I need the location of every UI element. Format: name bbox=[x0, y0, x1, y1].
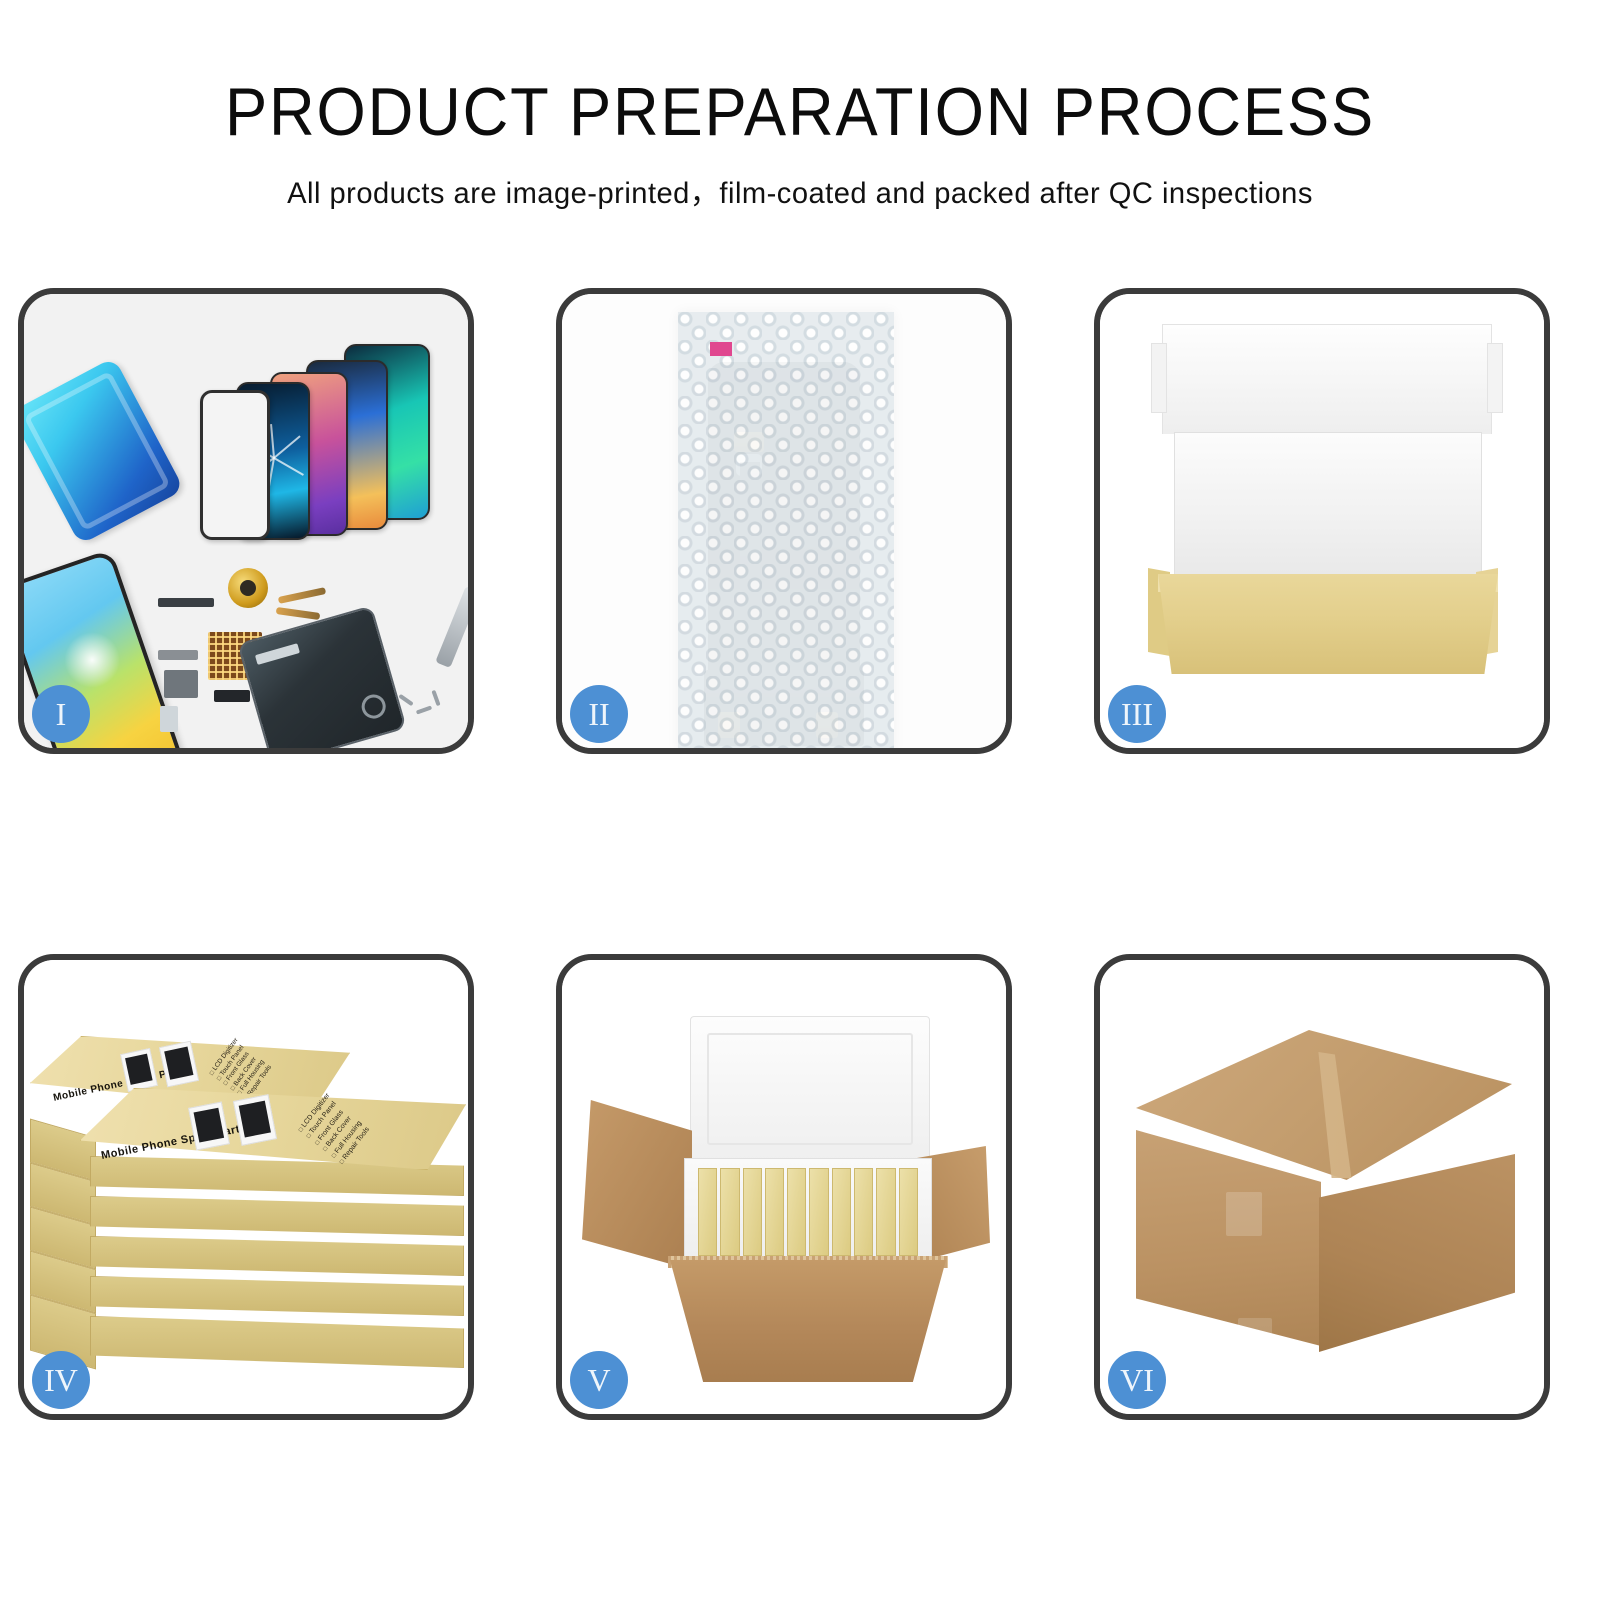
step-panel-4[interactable]: Mobile Phone Spare Parts LCD Digitizer T… bbox=[18, 954, 474, 1420]
step-image-inner-mailer-box bbox=[1100, 294, 1544, 748]
gold-connector-graphic bbox=[734, 432, 764, 452]
inner-retail-boxes-graphic bbox=[698, 1168, 918, 1256]
page-subtitle: All products are image-printed，film-coat… bbox=[24, 168, 1576, 212]
step-badge-2: II bbox=[570, 685, 628, 743]
connector-graphic-2 bbox=[164, 670, 198, 698]
step-panel-6[interactable]: VI bbox=[1094, 954, 1550, 1420]
process-row-1: I II bbox=[18, 288, 1582, 754]
step-image-foam-carton-packing bbox=[562, 960, 1006, 1414]
phone-screen-fan-graphic bbox=[174, 352, 464, 562]
repair-tool-graphic bbox=[435, 586, 468, 668]
flex-cable-graphic-1 bbox=[278, 587, 326, 604]
carton-side-left-graphic bbox=[1136, 1130, 1321, 1346]
step-image-spare-parts-overview bbox=[24, 294, 468, 748]
carton-front-graphic bbox=[670, 1260, 946, 1382]
sim-tray-graphic bbox=[160, 706, 178, 732]
bottom-flex-board-graphic bbox=[704, 670, 864, 746]
flex-cable-graphic-2 bbox=[276, 607, 321, 620]
step-badge-1: I bbox=[32, 685, 90, 743]
logic-board-graphic bbox=[237, 605, 407, 748]
lcd-assembly-graphic bbox=[708, 362, 860, 734]
screws-graphic bbox=[398, 696, 452, 726]
step-panel-1[interactable]: I bbox=[18, 288, 474, 754]
front-glass-graphic bbox=[200, 390, 270, 540]
ic-chip-graphic bbox=[214, 690, 250, 702]
carton-handle-tab-graphic-1 bbox=[1226, 1192, 1262, 1236]
step-badge-6: VI bbox=[1108, 1351, 1166, 1409]
carton-flap-left-graphic bbox=[582, 1100, 692, 1270]
foam-lid-graphic bbox=[690, 1016, 930, 1162]
carton-handle-tab-graphic-2 bbox=[1238, 1318, 1272, 1358]
flex-ribbon-graphic bbox=[740, 462, 760, 642]
step-image-sealed-shipping-carton bbox=[1100, 960, 1544, 1414]
mailer-front-graphic bbox=[1158, 574, 1498, 674]
step-badge-5: V bbox=[570, 1351, 628, 1409]
wireless-coil-graphic bbox=[228, 568, 268, 608]
step-panel-3[interactable]: III bbox=[1094, 288, 1550, 754]
step-panel-5[interactable]: V bbox=[556, 954, 1012, 1420]
pink-tape-tab-graphic bbox=[710, 342, 732, 356]
step-panel-2[interactable]: II bbox=[556, 288, 1012, 754]
speaker-mesh-graphic bbox=[158, 598, 214, 607]
step-badge-3: III bbox=[1108, 685, 1166, 743]
retail-box-stack-graphic: Mobile Phone Spare Parts LCD Digitizer T… bbox=[24, 960, 468, 1414]
mailer-lid-graphic bbox=[1162, 324, 1492, 434]
step-image-retail-boxes-stack: Mobile Phone Spare Parts LCD Digitizer T… bbox=[24, 960, 468, 1414]
connector-pad-graphic bbox=[736, 454, 762, 476]
page-title: PRODUCT PREPARATION PROCESS bbox=[56, 78, 1544, 146]
step-badge-4: IV bbox=[32, 1351, 90, 1409]
page-header: PRODUCT PREPARATION PROCESS All products… bbox=[0, 0, 1600, 212]
mailer-back-panel-graphic bbox=[1174, 432, 1482, 588]
carton-side-right-graphic bbox=[1319, 1154, 1515, 1352]
connector-graphic-1 bbox=[158, 650, 198, 660]
bubble-wrap-bag-graphic bbox=[678, 312, 894, 748]
step-image-bubble-wrap-protection bbox=[562, 294, 1006, 748]
small-parts-group-graphic bbox=[152, 574, 402, 744]
process-grid: I II bbox=[18, 288, 1582, 1420]
process-row-2: Mobile Phone Spare Parts LCD Digitizer T… bbox=[18, 954, 1582, 1420]
adhesive-sheet-graphic bbox=[24, 357, 184, 545]
